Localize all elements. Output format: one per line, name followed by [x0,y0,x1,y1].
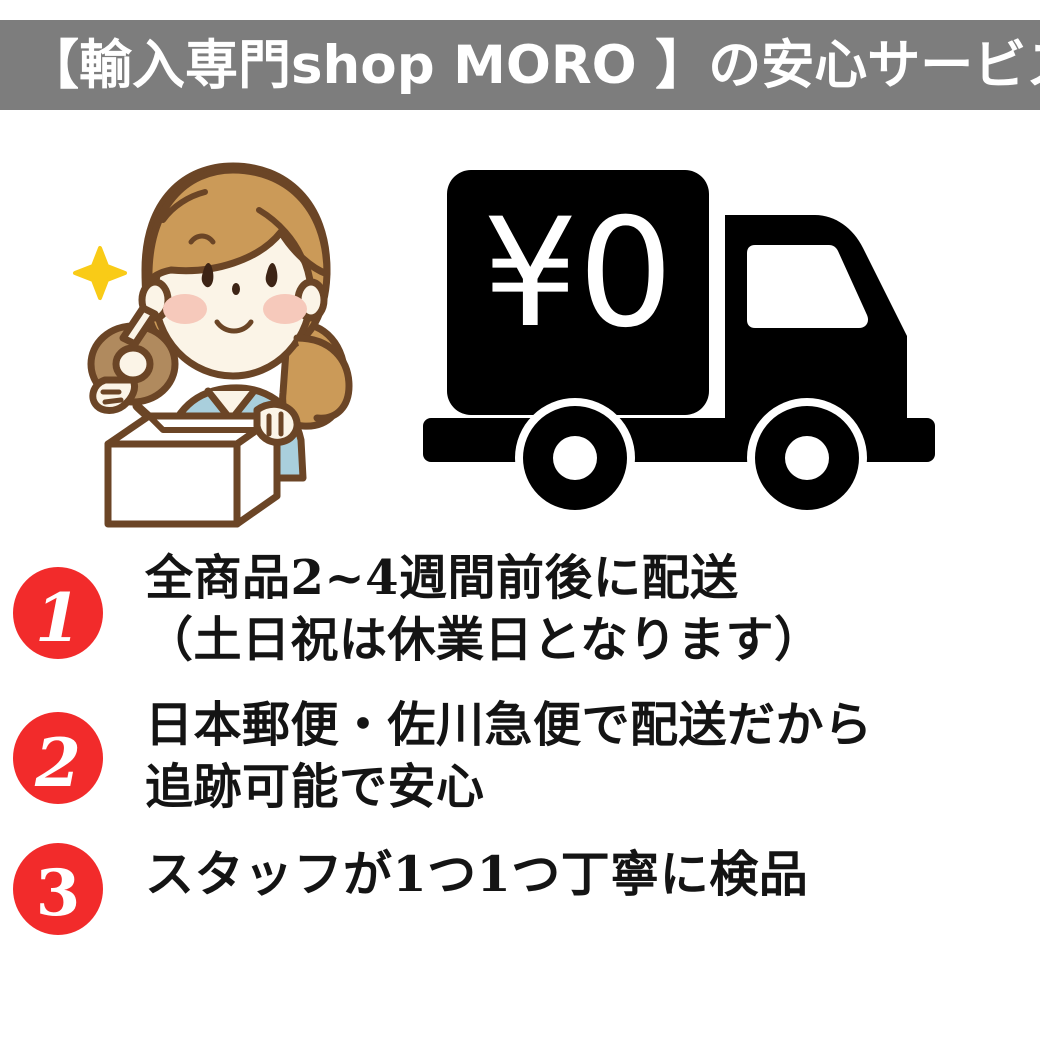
truck-price-label: ¥0 [483,187,674,361]
header-bar: 【輸入専門shop MORO 】の安心サービス [0,20,1040,110]
cheek-right [263,294,307,324]
list-item-text: スタッフが1つ1つ丁寧に検品 [145,841,1040,907]
badge-label: 2 [34,724,81,802]
badge-label: 1 [35,579,81,657]
list-item-text: 全商品2~4週間前後に配送 （土日祝は休業日となります） [145,545,1040,672]
free-shipping-truck-illustration: ¥0 [415,150,1015,520]
badge-number-3: 3 [13,843,103,935]
promo-banner-page: 【輸入専門shop MORO 】の安心サービス [0,0,1040,1040]
staff-woman-illustration [45,148,395,528]
list-item: 2 日本郵便・佐川急便で配送だから 追跡可能で安心 [13,692,1040,819]
illustration-row: ¥0 [0,130,1040,530]
page-title: 【輸入専門shop MORO 】の安心サービス [26,39,1040,92]
staff-woman-icon [45,148,395,528]
badge-number-1: 1 [13,567,103,659]
sparkle-icon [75,248,125,298]
list-item-text: 日本郵便・佐川急便で配送だから 追跡可能で安心 [145,692,1040,819]
badge-label: 3 [36,856,81,931]
cheek-left [163,294,207,324]
service-list: 1 全商品2~4週間前後に配送 （土日祝は休業日となります） 2 日本郵便・佐川… [0,545,1040,935]
list-item: 3 スタッフが1つ1つ丁寧に検品 [13,841,1040,935]
list-item: 1 全商品2~4週間前後に配送 （土日祝は休業日となります） [13,545,1040,672]
delivery-truck-icon: ¥0 [415,150,1015,520]
badge-number-2: 2 [13,712,103,804]
